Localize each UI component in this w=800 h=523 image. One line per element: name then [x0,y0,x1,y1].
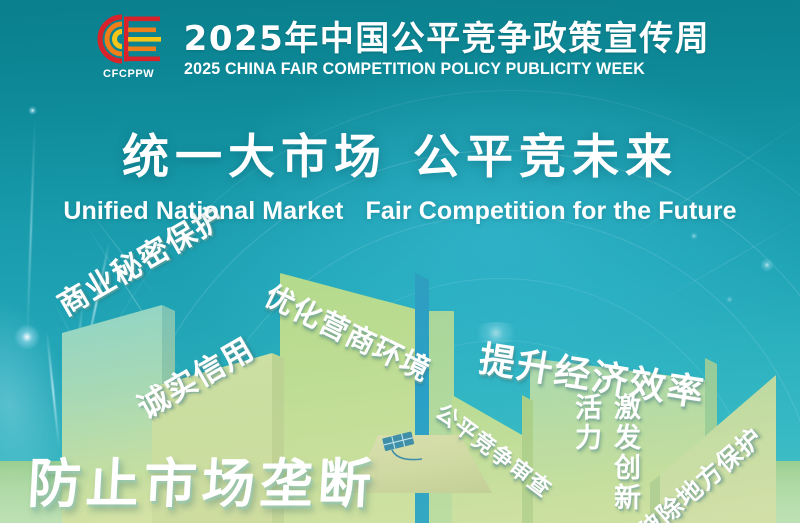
cfcppw-logo: CFCPPW [90,13,168,87]
slogan-en-right: Fair Competition for the Future [365,197,736,225]
header-title-en: 2025 CHINA FAIR COMPETITION POLICY PUBLI… [184,60,695,79]
decor-glow-dot [690,232,698,240]
slogan-cn: 统一大市场公平竞未来 [0,118,800,187]
headline-prevent-monopoly: 防止市场垄断 [26,442,378,518]
slogan-block: 统一大市场公平竞未来 Unified National MarketFair C… [0,118,800,226]
header-title-block: 2025年中国公平竞争政策宣传周 2025 CHINA FAIR COMPETI… [184,21,711,79]
city-skyline: 商业秘密保护 诚实信用 优化营商环境 公平竞争审查 提升经济效率 [0,250,800,523]
poster-canvas: CFCPPW 2025年中国公平竞争政策宣传周 2025 CHINA FAIR … [0,0,800,523]
poster-header: CFCPPW 2025年中国公平竞争政策宣传周 2025 CHINA FAIR … [0,0,800,100]
building-label-innovation-vitality: 激发创新活力 [566,393,644,523]
solar-panel-icon [378,430,426,471]
decor-glow-dot [28,106,37,115]
slogan-cn-left: 统一大市场 [122,130,387,185]
cfcppw-arc-logo-icon [92,13,166,65]
logo-caption: CFCPPW [103,68,154,80]
slogan-en: Unified National MarketFair Competition … [0,197,800,226]
slogan-en-left: Unified National Market [63,197,343,225]
header-title-cn: 2025年中国公平竞争政策宣传周 [184,21,711,57]
slogan-cn-right: 公平竞未来 [413,130,678,185]
